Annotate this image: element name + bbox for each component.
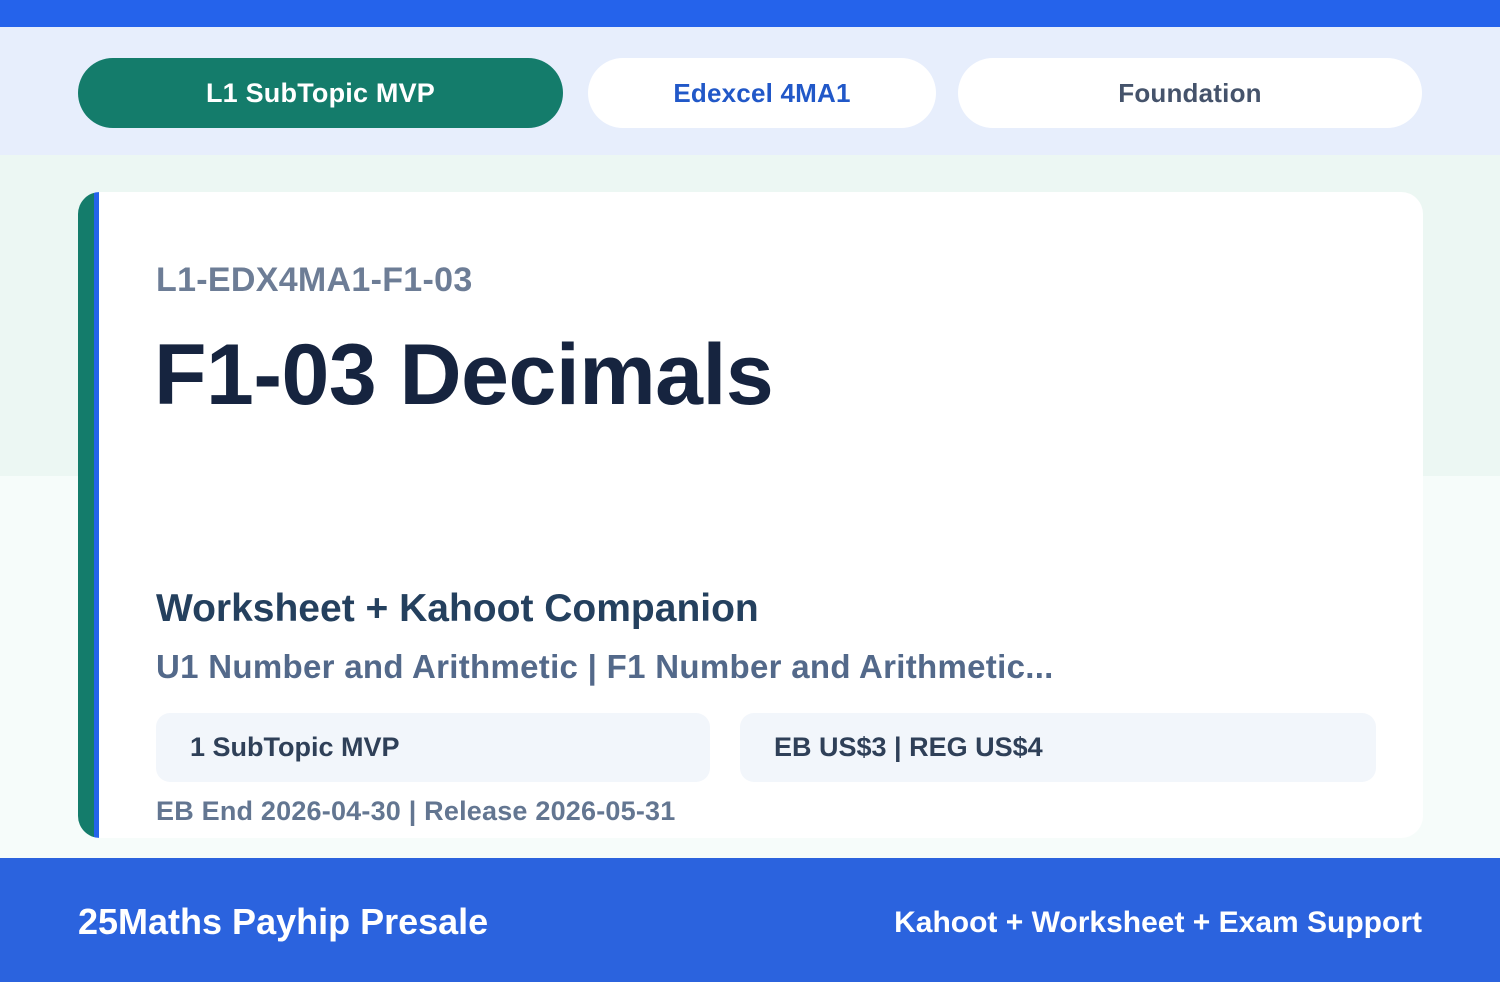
product-code: L1-EDX4MA1-F1-03 (156, 261, 473, 300)
pill-exam-board[interactable]: Edexcel 4MA1 (588, 58, 936, 128)
pill-level-tag[interactable]: L1 SubTopic MVP (78, 58, 563, 128)
pill-tier[interactable]: Foundation (958, 58, 1422, 128)
top-accent-strip (0, 0, 1500, 27)
card-subtitle: U1 Number and Arithmetic | F1 Number and… (156, 648, 1054, 686)
card-subheading: Worksheet + Kahoot Companion (156, 587, 759, 631)
footer-tagline: Kahoot + Worksheet + Exam Support (894, 906, 1422, 940)
footer-bar: 25Maths Payhip Presale Kahoot + Workshee… (0, 858, 1500, 982)
product-card: L1-EDX4MA1-F1-03 F1-03 Decimals Workshee… (78, 192, 1423, 838)
date-line: EB End 2026-04-30 | Release 2026-05-31 (156, 796, 675, 827)
footer-brand: 25Maths Payhip Presale (78, 901, 488, 943)
card-content: L1-EDX4MA1-F1-03 F1-03 Decimals Workshee… (99, 192, 1423, 838)
chip-subtopic-count: 1 SubTopic MVP (156, 713, 710, 782)
header-pill-row: L1 SubTopic MVP Edexcel 4MA1 Foundation (0, 58, 1500, 128)
page-title: F1-03 Decimals (154, 332, 773, 418)
accent-bar-teal (78, 192, 94, 838)
chip-pricing: EB US$3 | REG US$4 (740, 713, 1376, 782)
